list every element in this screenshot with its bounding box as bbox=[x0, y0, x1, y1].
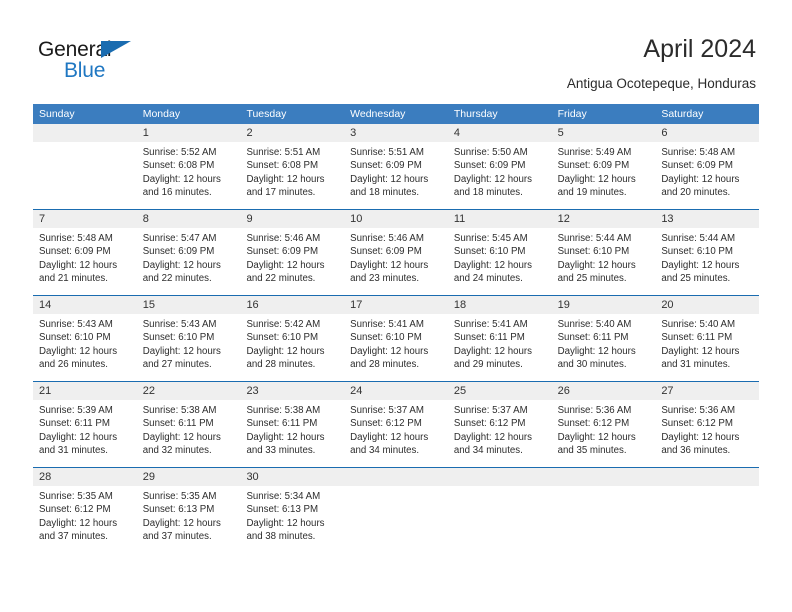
daylight-text-line1: Daylight: 12 hours bbox=[661, 173, 751, 186]
day-number: 29 bbox=[137, 468, 241, 486]
day-number: 19 bbox=[552, 296, 656, 314]
day-number: 15 bbox=[137, 296, 241, 314]
daylight-text-line2: and 27 minutes. bbox=[143, 358, 233, 371]
sunrise-text: Sunrise: 5:44 AM bbox=[558, 232, 648, 245]
logo-text-blue: Blue bbox=[64, 59, 105, 83]
sunrise-text: Sunrise: 5:48 AM bbox=[39, 232, 129, 245]
sunrise-text: Sunrise: 5:34 AM bbox=[246, 490, 336, 503]
daylight-text-line1: Daylight: 12 hours bbox=[661, 431, 751, 444]
day-details: Sunrise: 5:36 AMSunset: 6:12 PMDaylight:… bbox=[552, 400, 656, 458]
sunrise-text: Sunrise: 5:40 AM bbox=[661, 318, 751, 331]
day-cell[interactable]: 13Sunrise: 5:44 AMSunset: 6:10 PMDayligh… bbox=[655, 210, 759, 295]
sunrise-text: Sunrise: 5:44 AM bbox=[661, 232, 751, 245]
sunrise-text: Sunrise: 5:43 AM bbox=[39, 318, 129, 331]
day-details: Sunrise: 5:51 AMSunset: 6:08 PMDaylight:… bbox=[240, 142, 344, 200]
day-cell[interactable]: 21Sunrise: 5:39 AMSunset: 6:11 PMDayligh… bbox=[33, 382, 137, 467]
sunrise-text: Sunrise: 5:35 AM bbox=[39, 490, 129, 503]
day-number: 11 bbox=[448, 210, 552, 228]
daylight-text-line2: and 38 minutes. bbox=[246, 530, 336, 543]
dow-sunday: Sunday bbox=[33, 104, 137, 124]
day-cell[interactable]: 10Sunrise: 5:46 AMSunset: 6:09 PMDayligh… bbox=[344, 210, 448, 295]
daylight-text-line2: and 25 minutes. bbox=[661, 272, 751, 285]
daylight-text-line1: Daylight: 12 hours bbox=[143, 259, 233, 272]
day-cell[interactable]: 5Sunrise: 5:49 AMSunset: 6:09 PMDaylight… bbox=[552, 124, 656, 209]
dow-thursday: Thursday bbox=[448, 104, 552, 124]
sunrise-text: Sunrise: 5:51 AM bbox=[246, 146, 336, 159]
sunset-text: Sunset: 6:11 PM bbox=[558, 331, 648, 344]
day-details: Sunrise: 5:40 AMSunset: 6:11 PMDaylight:… bbox=[655, 314, 759, 372]
daylight-text-line2: and 23 minutes. bbox=[350, 272, 440, 285]
sunset-text: Sunset: 6:10 PM bbox=[350, 331, 440, 344]
daylight-text-line2: and 37 minutes. bbox=[39, 530, 129, 543]
daylight-text-line2: and 36 minutes. bbox=[661, 444, 751, 457]
daylight-text-line1: Daylight: 12 hours bbox=[454, 173, 544, 186]
dow-friday: Friday bbox=[552, 104, 656, 124]
sunrise-text: Sunrise: 5:37 AM bbox=[350, 404, 440, 417]
day-details: Sunrise: 5:34 AMSunset: 6:13 PMDaylight:… bbox=[240, 486, 344, 544]
daylight-text-line1: Daylight: 12 hours bbox=[350, 431, 440, 444]
daylight-text-line2: and 21 minutes. bbox=[39, 272, 129, 285]
day-cell[interactable]: 7Sunrise: 5:48 AMSunset: 6:09 PMDaylight… bbox=[33, 210, 137, 295]
daylight-text-line1: Daylight: 12 hours bbox=[558, 431, 648, 444]
day-details: Sunrise: 5:46 AMSunset: 6:09 PMDaylight:… bbox=[344, 228, 448, 286]
daylight-text-line2: and 33 minutes. bbox=[246, 444, 336, 457]
sunset-text: Sunset: 6:12 PM bbox=[661, 417, 751, 430]
sunrise-text: Sunrise: 5:36 AM bbox=[661, 404, 751, 417]
sunset-text: Sunset: 6:09 PM bbox=[661, 159, 751, 172]
sunrise-text: Sunrise: 5:37 AM bbox=[454, 404, 544, 417]
sunrise-text: Sunrise: 5:43 AM bbox=[143, 318, 233, 331]
day-cell[interactable]: 14Sunrise: 5:43 AMSunset: 6:10 PMDayligh… bbox=[33, 296, 137, 381]
sunset-text: Sunset: 6:10 PM bbox=[143, 331, 233, 344]
calendar-week-row: 7Sunrise: 5:48 AMSunset: 6:09 PMDaylight… bbox=[33, 209, 759, 295]
daylight-text-line2: and 18 minutes. bbox=[454, 186, 544, 199]
day-of-week-header: Sunday Monday Tuesday Wednesday Thursday… bbox=[33, 104, 759, 124]
daylight-text-line2: and 16 minutes. bbox=[143, 186, 233, 199]
day-details: Sunrise: 5:48 AMSunset: 6:09 PMDaylight:… bbox=[655, 142, 759, 200]
day-number: 26 bbox=[552, 382, 656, 400]
day-cell[interactable]: 8Sunrise: 5:47 AMSunset: 6:09 PMDaylight… bbox=[137, 210, 241, 295]
sunrise-text: Sunrise: 5:45 AM bbox=[454, 232, 544, 245]
sunset-text: Sunset: 6:12 PM bbox=[558, 417, 648, 430]
day-cell[interactable]: 28Sunrise: 5:35 AMSunset: 6:12 PMDayligh… bbox=[33, 468, 137, 553]
daylight-text-line1: Daylight: 12 hours bbox=[143, 431, 233, 444]
calendar-weeks: 1Sunrise: 5:52 AMSunset: 6:08 PMDaylight… bbox=[33, 124, 759, 553]
dow-saturday: Saturday bbox=[655, 104, 759, 124]
day-number: 12 bbox=[552, 210, 656, 228]
day-cell-empty bbox=[448, 468, 552, 553]
day-cell[interactable]: 26Sunrise: 5:36 AMSunset: 6:12 PMDayligh… bbox=[552, 382, 656, 467]
sunrise-text: Sunrise: 5:46 AM bbox=[246, 232, 336, 245]
day-details: Sunrise: 5:49 AMSunset: 6:09 PMDaylight:… bbox=[552, 142, 656, 200]
page-title: April 2024 bbox=[643, 34, 756, 64]
day-number bbox=[33, 124, 137, 142]
daylight-text-line1: Daylight: 12 hours bbox=[454, 345, 544, 358]
daylight-text-line1: Daylight: 12 hours bbox=[246, 345, 336, 358]
daylight-text-line1: Daylight: 12 hours bbox=[558, 173, 648, 186]
sunset-text: Sunset: 6:11 PM bbox=[39, 417, 129, 430]
day-number: 1 bbox=[137, 124, 241, 142]
daylight-text-line2: and 20 minutes. bbox=[661, 186, 751, 199]
general-blue-logo[interactable]: General Blue bbox=[38, 38, 168, 84]
day-number: 24 bbox=[344, 382, 448, 400]
calendar-week-row: 14Sunrise: 5:43 AMSunset: 6:10 PMDayligh… bbox=[33, 295, 759, 381]
sunrise-text: Sunrise: 5:38 AM bbox=[246, 404, 336, 417]
week-cells: 28Sunrise: 5:35 AMSunset: 6:12 PMDayligh… bbox=[33, 468, 759, 553]
day-details: Sunrise: 5:38 AMSunset: 6:11 PMDaylight:… bbox=[137, 400, 241, 458]
daylight-text-line1: Daylight: 12 hours bbox=[350, 173, 440, 186]
sunset-text: Sunset: 6:09 PM bbox=[350, 245, 440, 258]
day-details: Sunrise: 5:36 AMSunset: 6:12 PMDaylight:… bbox=[655, 400, 759, 458]
day-details: Sunrise: 5:43 AMSunset: 6:10 PMDaylight:… bbox=[137, 314, 241, 372]
sunset-text: Sunset: 6:12 PM bbox=[39, 503, 129, 516]
daylight-text-line1: Daylight: 12 hours bbox=[39, 259, 129, 272]
sunset-text: Sunset: 6:10 PM bbox=[661, 245, 751, 258]
day-cell[interactable]: 12Sunrise: 5:44 AMSunset: 6:10 PMDayligh… bbox=[552, 210, 656, 295]
day-cell[interactable]: 9Sunrise: 5:46 AMSunset: 6:09 PMDaylight… bbox=[240, 210, 344, 295]
sunrise-text: Sunrise: 5:42 AM bbox=[246, 318, 336, 331]
sunrise-text: Sunrise: 5:38 AM bbox=[143, 404, 233, 417]
daylight-text-line1: Daylight: 12 hours bbox=[661, 259, 751, 272]
day-details: Sunrise: 5:37 AMSunset: 6:12 PMDaylight:… bbox=[448, 400, 552, 458]
daylight-text-line2: and 25 minutes. bbox=[558, 272, 648, 285]
sunset-text: Sunset: 6:11 PM bbox=[143, 417, 233, 430]
sunset-text: Sunset: 6:09 PM bbox=[558, 159, 648, 172]
day-cell-empty bbox=[344, 468, 448, 553]
day-details: Sunrise: 5:50 AMSunset: 6:09 PMDaylight:… bbox=[448, 142, 552, 200]
daylight-text-line1: Daylight: 12 hours bbox=[143, 345, 233, 358]
sunset-text: Sunset: 6:08 PM bbox=[246, 159, 336, 172]
day-cell[interactable]: 4Sunrise: 5:50 AMSunset: 6:09 PMDaylight… bbox=[448, 124, 552, 209]
sunrise-text: Sunrise: 5:52 AM bbox=[143, 146, 233, 159]
calendar-grid: Sunday Monday Tuesday Wednesday Thursday… bbox=[33, 104, 759, 553]
week-cells: 1Sunrise: 5:52 AMSunset: 6:08 PMDaylight… bbox=[33, 124, 759, 209]
day-cell-empty bbox=[552, 468, 656, 553]
day-cell[interactable]: 1Sunrise: 5:52 AMSunset: 6:08 PMDaylight… bbox=[137, 124, 241, 209]
sunrise-text: Sunrise: 5:46 AM bbox=[350, 232, 440, 245]
day-details: Sunrise: 5:45 AMSunset: 6:10 PMDaylight:… bbox=[448, 228, 552, 286]
page-subtitle: Antigua Ocotepeque, Honduras bbox=[567, 75, 756, 92]
sunrise-text: Sunrise: 5:40 AM bbox=[558, 318, 648, 331]
daylight-text-line1: Daylight: 12 hours bbox=[661, 345, 751, 358]
sunrise-text: Sunrise: 5:41 AM bbox=[350, 318, 440, 331]
sunrise-text: Sunrise: 5:50 AM bbox=[454, 146, 544, 159]
day-cell-empty bbox=[33, 124, 137, 209]
daylight-text-line2: and 29 minutes. bbox=[454, 358, 544, 371]
sunset-text: Sunset: 6:08 PM bbox=[143, 159, 233, 172]
day-details: Sunrise: 5:44 AMSunset: 6:10 PMDaylight:… bbox=[552, 228, 656, 286]
week-cells: 14Sunrise: 5:43 AMSunset: 6:10 PMDayligh… bbox=[33, 296, 759, 381]
sunset-text: Sunset: 6:10 PM bbox=[39, 331, 129, 344]
day-cell[interactable]: 15Sunrise: 5:43 AMSunset: 6:10 PMDayligh… bbox=[137, 296, 241, 381]
day-cell[interactable]: 18Sunrise: 5:41 AMSunset: 6:11 PMDayligh… bbox=[448, 296, 552, 381]
sunset-text: Sunset: 6:12 PM bbox=[350, 417, 440, 430]
day-details: Sunrise: 5:42 AMSunset: 6:10 PMDaylight:… bbox=[240, 314, 344, 372]
daylight-text-line1: Daylight: 12 hours bbox=[39, 431, 129, 444]
day-cell[interactable]: 24Sunrise: 5:37 AMSunset: 6:12 PMDayligh… bbox=[344, 382, 448, 467]
daylight-text-line2: and 17 minutes. bbox=[246, 186, 336, 199]
daylight-text-line2: and 24 minutes. bbox=[454, 272, 544, 285]
sunset-text: Sunset: 6:11 PM bbox=[454, 331, 544, 344]
day-number: 3 bbox=[344, 124, 448, 142]
sunset-text: Sunset: 6:10 PM bbox=[246, 331, 336, 344]
day-number: 7 bbox=[33, 210, 137, 228]
daylight-text-line2: and 31 minutes. bbox=[39, 444, 129, 457]
day-details: Sunrise: 5:46 AMSunset: 6:09 PMDaylight:… bbox=[240, 228, 344, 286]
day-number: 14 bbox=[33, 296, 137, 314]
sunset-text: Sunset: 6:09 PM bbox=[39, 245, 129, 258]
sunset-text: Sunset: 6:09 PM bbox=[350, 159, 440, 172]
day-number bbox=[448, 468, 552, 486]
triangle-icon bbox=[101, 41, 131, 58]
sunset-text: Sunset: 6:09 PM bbox=[454, 159, 544, 172]
daylight-text-line1: Daylight: 12 hours bbox=[246, 259, 336, 272]
sunset-text: Sunset: 6:10 PM bbox=[454, 245, 544, 258]
sunrise-text: Sunrise: 5:39 AM bbox=[39, 404, 129, 417]
daylight-text-line1: Daylight: 12 hours bbox=[246, 517, 336, 530]
sunset-text: Sunset: 6:10 PM bbox=[558, 245, 648, 258]
sunset-text: Sunset: 6:13 PM bbox=[246, 503, 336, 516]
daylight-text-line1: Daylight: 12 hours bbox=[143, 173, 233, 186]
calendar-page: General Blue April 2024 Antigua Ocotepeq… bbox=[0, 0, 792, 612]
daylight-text-line1: Daylight: 12 hours bbox=[558, 345, 648, 358]
daylight-text-line2: and 22 minutes. bbox=[143, 272, 233, 285]
sunset-text: Sunset: 6:09 PM bbox=[143, 245, 233, 258]
daylight-text-line2: and 37 minutes. bbox=[143, 530, 233, 543]
day-number: 22 bbox=[137, 382, 241, 400]
day-cell[interactable]: 30Sunrise: 5:34 AMSunset: 6:13 PMDayligh… bbox=[240, 468, 344, 553]
day-cell[interactable]: 20Sunrise: 5:40 AMSunset: 6:11 PMDayligh… bbox=[655, 296, 759, 381]
day-cell[interactable]: 16Sunrise: 5:42 AMSunset: 6:10 PMDayligh… bbox=[240, 296, 344, 381]
day-number bbox=[552, 468, 656, 486]
day-number: 4 bbox=[448, 124, 552, 142]
daylight-text-line2: and 18 minutes. bbox=[350, 186, 440, 199]
daylight-text-line2: and 32 minutes. bbox=[143, 444, 233, 457]
day-cell[interactable]: 3Sunrise: 5:51 AMSunset: 6:09 PMDaylight… bbox=[344, 124, 448, 209]
day-number: 17 bbox=[344, 296, 448, 314]
day-number: 28 bbox=[33, 468, 137, 486]
page-header: General Blue April 2024 Antigua Ocotepeq… bbox=[0, 0, 792, 100]
day-details: Sunrise: 5:51 AMSunset: 6:09 PMDaylight:… bbox=[344, 142, 448, 200]
week-cells: 21Sunrise: 5:39 AMSunset: 6:11 PMDayligh… bbox=[33, 382, 759, 467]
day-details: Sunrise: 5:39 AMSunset: 6:11 PMDaylight:… bbox=[33, 400, 137, 458]
day-number: 21 bbox=[33, 382, 137, 400]
daylight-text-line1: Daylight: 12 hours bbox=[558, 259, 648, 272]
day-number: 9 bbox=[240, 210, 344, 228]
daylight-text-line1: Daylight: 12 hours bbox=[39, 345, 129, 358]
day-details: Sunrise: 5:40 AMSunset: 6:11 PMDaylight:… bbox=[552, 314, 656, 372]
sunrise-text: Sunrise: 5:47 AM bbox=[143, 232, 233, 245]
sunrise-text: Sunrise: 5:41 AM bbox=[454, 318, 544, 331]
day-cell-empty bbox=[655, 468, 759, 553]
calendar-week-row: 28Sunrise: 5:35 AMSunset: 6:12 PMDayligh… bbox=[33, 467, 759, 553]
daylight-text-line2: and 34 minutes. bbox=[350, 444, 440, 457]
daylight-text-line2: and 31 minutes. bbox=[661, 358, 751, 371]
day-number: 30 bbox=[240, 468, 344, 486]
daylight-text-line2: and 22 minutes. bbox=[246, 272, 336, 285]
sunrise-text: Sunrise: 5:48 AM bbox=[661, 146, 751, 159]
daylight-text-line1: Daylight: 12 hours bbox=[143, 517, 233, 530]
daylight-text-line1: Daylight: 12 hours bbox=[39, 517, 129, 530]
day-number: 2 bbox=[240, 124, 344, 142]
day-details: Sunrise: 5:48 AMSunset: 6:09 PMDaylight:… bbox=[33, 228, 137, 286]
daylight-text-line2: and 35 minutes. bbox=[558, 444, 648, 457]
day-number: 25 bbox=[448, 382, 552, 400]
day-cell[interactable]: 25Sunrise: 5:37 AMSunset: 6:12 PMDayligh… bbox=[448, 382, 552, 467]
sunset-text: Sunset: 6:09 PM bbox=[246, 245, 336, 258]
daylight-text-line2: and 34 minutes. bbox=[454, 444, 544, 457]
day-number: 18 bbox=[448, 296, 552, 314]
daylight-text-line1: Daylight: 12 hours bbox=[454, 259, 544, 272]
day-cell[interactable]: 23Sunrise: 5:38 AMSunset: 6:11 PMDayligh… bbox=[240, 382, 344, 467]
week-cells: 7Sunrise: 5:48 AMSunset: 6:09 PMDaylight… bbox=[33, 210, 759, 295]
daylight-text-line1: Daylight: 12 hours bbox=[350, 345, 440, 358]
calendar-week-row: 1Sunrise: 5:52 AMSunset: 6:08 PMDaylight… bbox=[33, 124, 759, 209]
day-details: Sunrise: 5:52 AMSunset: 6:08 PMDaylight:… bbox=[137, 142, 241, 200]
day-details: Sunrise: 5:43 AMSunset: 6:10 PMDaylight:… bbox=[33, 314, 137, 372]
day-number bbox=[344, 468, 448, 486]
sunset-text: Sunset: 6:11 PM bbox=[246, 417, 336, 430]
day-number: 6 bbox=[655, 124, 759, 142]
day-details: Sunrise: 5:35 AMSunset: 6:12 PMDaylight:… bbox=[33, 486, 137, 544]
sunset-text: Sunset: 6:12 PM bbox=[454, 417, 544, 430]
day-number: 23 bbox=[240, 382, 344, 400]
daylight-text-line1: Daylight: 12 hours bbox=[454, 431, 544, 444]
day-cell[interactable]: 27Sunrise: 5:36 AMSunset: 6:12 PMDayligh… bbox=[655, 382, 759, 467]
sunrise-text: Sunrise: 5:36 AM bbox=[558, 404, 648, 417]
day-cell[interactable]: 17Sunrise: 5:41 AMSunset: 6:10 PMDayligh… bbox=[344, 296, 448, 381]
day-cell[interactable]: 11Sunrise: 5:45 AMSunset: 6:10 PMDayligh… bbox=[448, 210, 552, 295]
daylight-text-line1: Daylight: 12 hours bbox=[246, 431, 336, 444]
calendar-week-row: 21Sunrise: 5:39 AMSunset: 6:11 PMDayligh… bbox=[33, 381, 759, 467]
day-details: Sunrise: 5:47 AMSunset: 6:09 PMDaylight:… bbox=[137, 228, 241, 286]
day-number: 27 bbox=[655, 382, 759, 400]
daylight-text-line1: Daylight: 12 hours bbox=[246, 173, 336, 186]
daylight-text-line2: and 19 minutes. bbox=[558, 186, 648, 199]
daylight-text-line2: and 26 minutes. bbox=[39, 358, 129, 371]
day-details: Sunrise: 5:35 AMSunset: 6:13 PMDaylight:… bbox=[137, 486, 241, 544]
daylight-text-line2: and 28 minutes. bbox=[246, 358, 336, 371]
sunrise-text: Sunrise: 5:49 AM bbox=[558, 146, 648, 159]
dow-tuesday: Tuesday bbox=[240, 104, 344, 124]
day-number: 16 bbox=[240, 296, 344, 314]
sunset-text: Sunset: 6:13 PM bbox=[143, 503, 233, 516]
daylight-text-line2: and 30 minutes. bbox=[558, 358, 648, 371]
day-number: 13 bbox=[655, 210, 759, 228]
day-number: 8 bbox=[137, 210, 241, 228]
sunset-text: Sunset: 6:11 PM bbox=[661, 331, 751, 344]
day-number bbox=[655, 468, 759, 486]
day-cell[interactable]: 29Sunrise: 5:35 AMSunset: 6:13 PMDayligh… bbox=[137, 468, 241, 553]
day-cell[interactable]: 19Sunrise: 5:40 AMSunset: 6:11 PMDayligh… bbox=[552, 296, 656, 381]
daylight-text-line1: Daylight: 12 hours bbox=[350, 259, 440, 272]
day-number: 20 bbox=[655, 296, 759, 314]
day-details: Sunrise: 5:38 AMSunset: 6:11 PMDaylight:… bbox=[240, 400, 344, 458]
day-cell[interactable]: 2Sunrise: 5:51 AMSunset: 6:08 PMDaylight… bbox=[240, 124, 344, 209]
sunrise-text: Sunrise: 5:51 AM bbox=[350, 146, 440, 159]
day-cell[interactable]: 22Sunrise: 5:38 AMSunset: 6:11 PMDayligh… bbox=[137, 382, 241, 467]
day-cell[interactable]: 6Sunrise: 5:48 AMSunset: 6:09 PMDaylight… bbox=[655, 124, 759, 209]
sunrise-text: Sunrise: 5:35 AM bbox=[143, 490, 233, 503]
day-details: Sunrise: 5:44 AMSunset: 6:10 PMDaylight:… bbox=[655, 228, 759, 286]
dow-wednesday: Wednesday bbox=[344, 104, 448, 124]
day-details: Sunrise: 5:41 AMSunset: 6:10 PMDaylight:… bbox=[344, 314, 448, 372]
day-details: Sunrise: 5:41 AMSunset: 6:11 PMDaylight:… bbox=[448, 314, 552, 372]
daylight-text-line2: and 28 minutes. bbox=[350, 358, 440, 371]
day-number: 5 bbox=[552, 124, 656, 142]
day-details: Sunrise: 5:37 AMSunset: 6:12 PMDaylight:… bbox=[344, 400, 448, 458]
dow-monday: Monday bbox=[137, 104, 241, 124]
day-number: 10 bbox=[344, 210, 448, 228]
